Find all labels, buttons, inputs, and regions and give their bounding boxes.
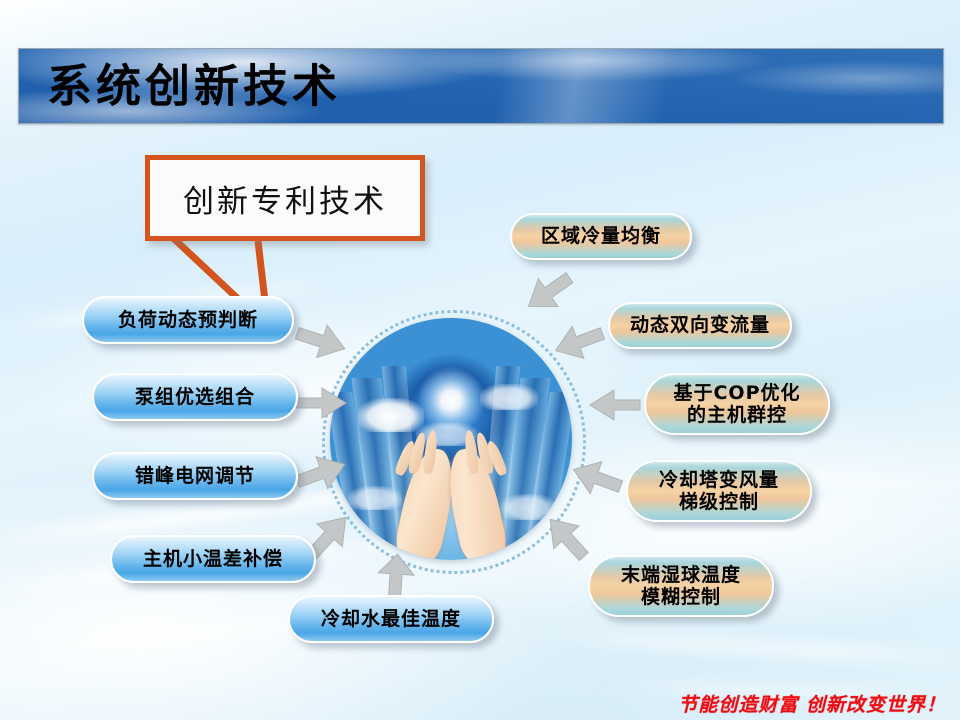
node-label: 主机小温差补偿 xyxy=(143,548,283,570)
arrow-icon xyxy=(586,384,648,426)
cloud xyxy=(348,486,402,510)
arrow-icon xyxy=(568,452,630,502)
node-pump-group-optimal-combination[interactable]: 泵组优选组合 xyxy=(92,373,298,421)
arrow-icon xyxy=(550,316,610,372)
node-label: 动态双向变流量 xyxy=(630,314,770,336)
cloud xyxy=(358,398,424,432)
node-cooling-tower-variable-air-volume-staged-control[interactable]: 冷却塔变风量 梯级控制 xyxy=(626,460,812,522)
node-label-line2: 模糊控制 xyxy=(641,586,721,608)
node-label: 负荷动态预判断 xyxy=(118,309,258,331)
arrow-icon xyxy=(292,316,354,362)
cloud xyxy=(500,494,556,520)
footer-slogan: 节能创造财富 创新改变世界！ xyxy=(678,690,946,717)
node-regional-cooling-balance[interactable]: 区域冷量均衡 xyxy=(510,213,692,260)
node-label-line1: 末端湿球温度 xyxy=(621,564,741,586)
node-label-line1: 冷却塔变风量 xyxy=(659,469,779,491)
node-label: 错峰电网调节 xyxy=(135,465,255,487)
node-label: 区域冷量均衡 xyxy=(541,225,661,247)
callout-label: 创新专利技术 xyxy=(150,160,420,236)
cloud xyxy=(480,384,538,410)
node-label: 冷却水最佳温度 xyxy=(321,608,461,630)
node-label: 泵组优选组合 xyxy=(135,386,255,408)
node-peak-shifting-grid-regulation[interactable]: 错峰电网调节 xyxy=(92,452,298,500)
arrow-icon xyxy=(520,266,580,324)
node-dynamic-bidirectional-variable-flow[interactable]: 动态双向变流量 xyxy=(608,302,792,349)
node-cooling-water-optimal-temperature[interactable]: 冷却水最佳温度 xyxy=(288,595,494,643)
node-terminal-wet-bulb-fuzzy-control[interactable]: 末端湿球温度 模糊控制 xyxy=(588,555,774,617)
callout-box[interactable]: 创新专利技术 xyxy=(145,155,425,241)
node-label-line2: 梯级控制 xyxy=(679,491,759,513)
node-label-line1: 基于COP优化 xyxy=(673,382,800,404)
node-cop-based-chiller-plant-control[interactable]: 基于COP优化 的主机群控 xyxy=(644,373,830,435)
node-chiller-small-temp-diff-compensation[interactable]: 主机小温差补偿 xyxy=(110,535,316,583)
title-banner: 系统创新技术 xyxy=(18,48,944,124)
node-load-dynamic-prediction[interactable]: 负荷动态预判断 xyxy=(82,296,294,344)
node-label-line2: 的主机群控 xyxy=(687,404,787,426)
page-title: 系统创新技术 xyxy=(47,64,341,109)
slide-canvas: 系统创新技术 创新专利技术 xyxy=(0,0,960,720)
center-hub-image xyxy=(330,318,572,560)
cloud-streak xyxy=(540,629,960,665)
